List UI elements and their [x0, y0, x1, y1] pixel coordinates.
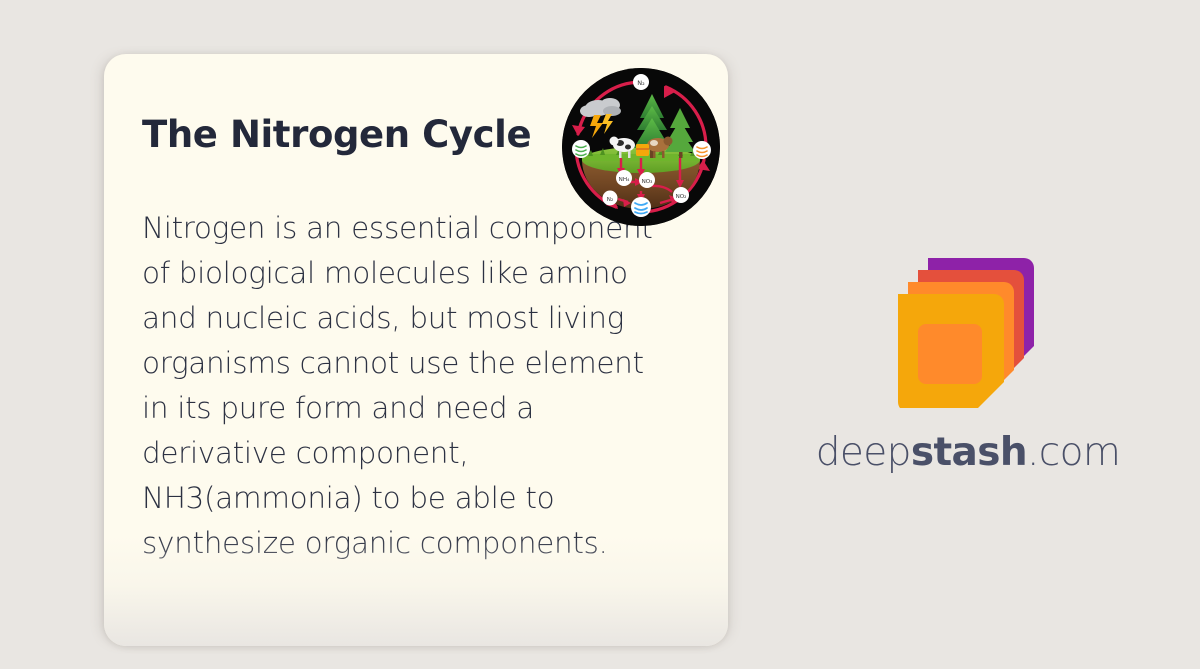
card-header: The Nitrogen Cycle — [140, 114, 684, 180]
svg-text:NO₃: NO₃ — [642, 179, 653, 185]
svg-text:NH₄: NH₄ — [619, 177, 630, 183]
quote-card: The Nitrogen Cycle — [104, 54, 728, 646]
brand-emphasis: stash — [911, 430, 1027, 475]
deepstash-logo-icon — [882, 248, 1054, 408]
brand-prefix: deep — [816, 430, 911, 475]
brand-tld: .com — [1027, 430, 1120, 475]
nitrogen-cycle-svg: N₂ NH₄ NO₃ NO₂ N₂ — [562, 68, 720, 226]
brand-wordmark: deepstash.com — [812, 430, 1124, 475]
svg-text:NO₂: NO₂ — [676, 194, 687, 200]
card-content: The Nitrogen Cycle — [104, 54, 728, 646]
card-body-text: Nitrogen is an essential component of bi… — [140, 206, 665, 566]
svg-text:N₂: N₂ — [607, 197, 613, 203]
brand-block: deepstash.com — [812, 248, 1124, 475]
nitrogen-cycle-illustration: N₂ NH₄ NO₃ NO₂ N₂ — [562, 68, 720, 226]
svg-text:N₂: N₂ — [637, 79, 645, 87]
